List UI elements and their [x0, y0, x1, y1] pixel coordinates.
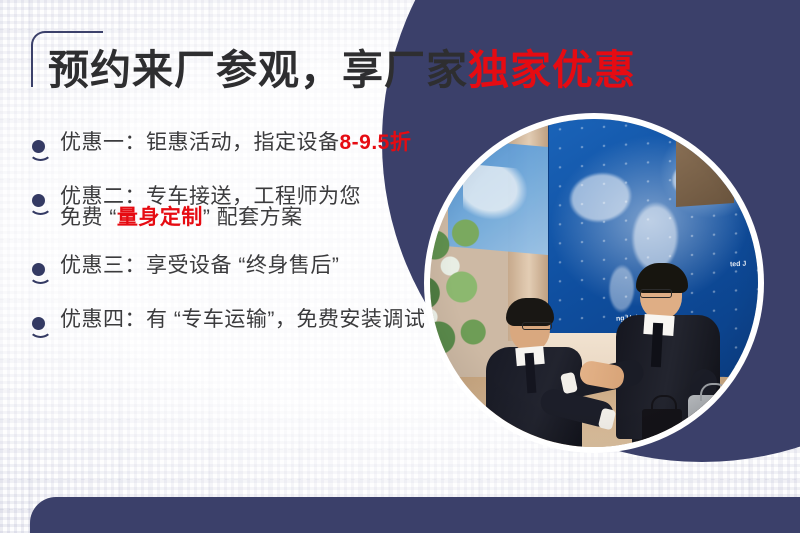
list-item-line: 优惠三：享受设备 “终身售后” — [60, 254, 339, 277]
list-item-segment: 优惠二：专车接送，工程师为您 — [60, 185, 361, 208]
navy-circle-bullet-icon — [28, 260, 50, 282]
list-item-line: 优惠二：专车接送，工程师为您 — [60, 185, 361, 208]
photo-screen-label-right: ted J — [730, 261, 747, 269]
list-item-accent-segment: 8-9.5折 — [340, 131, 412, 154]
navy-circle-bullet-icon — [28, 137, 50, 159]
handshake-photo: ng Unite ted J — [430, 119, 758, 447]
list-item-segment: 优惠三：享受设备 “终身售后” — [60, 254, 339, 277]
page-title-plain: 预约来厂参观，享厂家 — [48, 47, 468, 93]
list-item-segment: 优惠四：有 “专车运输”，免费安装调试 — [60, 308, 425, 331]
navy-circle-bullet-icon — [28, 314, 50, 336]
promo-poster: 预约来厂参观，享厂家独家优惠 优惠一：钜惠活动，指定设备8-9.5折 优惠二：专… — [0, 0, 800, 533]
list-item: 优惠一：钜惠活动，指定设备8-9.5折 — [28, 132, 498, 159]
list-item-accent-segment: 量身定制 — [117, 206, 203, 229]
photo-door — [676, 125, 734, 207]
list-item-text: 优惠三：享受设备 “终身售后” — [60, 255, 339, 276]
list-item-line: 优惠四：有 “专车运输”，免费安装调试 — [60, 308, 425, 331]
list-item-segment: 免费 “ — [60, 206, 117, 229]
list-item-text: 优惠一：钜惠活动，指定设备8-9.5折 — [60, 132, 411, 153]
list-item-segment: ” 配套方案 — [203, 206, 303, 229]
list-item-line: 优惠一：钜惠活动，指定设备8-9.5折 — [60, 131, 411, 154]
list-item: 优惠二：专车接送，工程师为您 免费 “量身定制” 配套方案 — [28, 186, 498, 228]
list-item-text: 优惠四：有 “专车运输”，免费安装调试 — [60, 309, 425, 330]
page-title: 预约来厂参观，享厂家独家优惠 — [48, 50, 636, 91]
handshake-photo-circle: ng Unite ted J — [424, 113, 764, 453]
navy-circle-bullet-icon — [28, 191, 50, 213]
photo-dark-handbag — [642, 409, 682, 447]
navy-bottom-bar-decoration — [30, 497, 800, 533]
photo-gray-briefcase — [688, 395, 736, 437]
list-item-segment: 优惠一：钜惠活动，指定设备 — [60, 131, 340, 154]
list-item-line: 免费 “量身定制” 配套方案 — [60, 206, 303, 229]
page-title-accent: 独家优惠 — [468, 47, 636, 93]
